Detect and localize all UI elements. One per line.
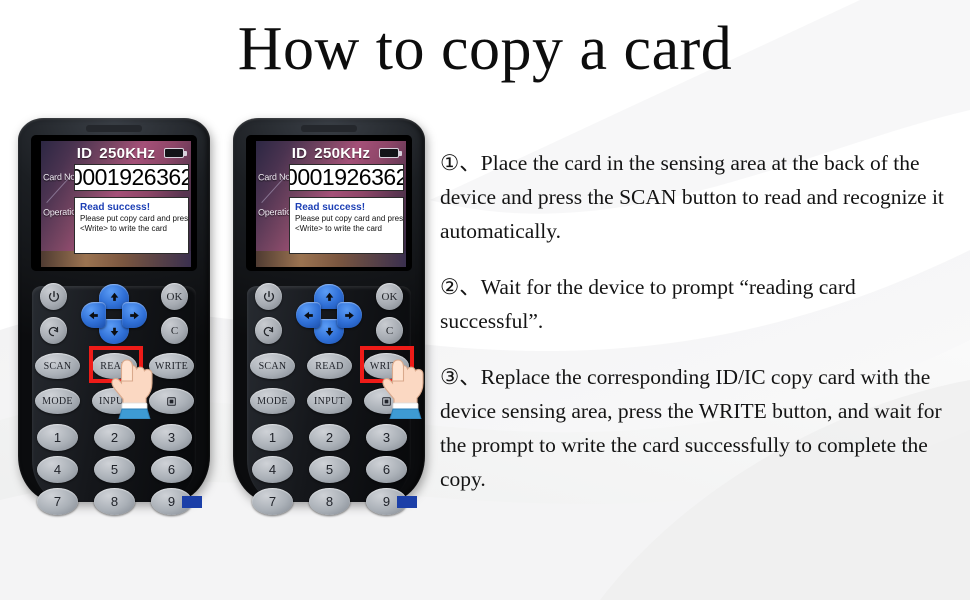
pointing-hand-icon — [110, 357, 170, 419]
arrow-down-icon — [323, 325, 336, 338]
dpad — [81, 284, 147, 344]
lcd-message-title: Read success! — [295, 202, 399, 214]
lcd-card-number-value: 0001926362 — [289, 164, 404, 191]
page-title: How to copy a card — [0, 14, 970, 85]
lcd-message-line-1: Please put copy card and press — [80, 214, 184, 224]
lcd-card-number-value: 0001926362 — [74, 164, 189, 191]
arrow-up-icon — [323, 290, 336, 303]
instructions-list: ①、Place the card in the sensing area at … — [440, 146, 964, 496]
read-button[interactable]: READ — [307, 353, 352, 379]
key-3[interactable]: 3 — [366, 424, 407, 451]
arrow-left-icon — [302, 309, 315, 322]
power-button[interactable] — [40, 283, 67, 310]
keypad: OK C — [18, 281, 210, 502]
key-3[interactable]: 3 — [151, 424, 192, 451]
mode-button[interactable]: MODE — [250, 388, 295, 414]
device-blue-tab — [397, 496, 417, 508]
ok-button[interactable]: OK — [161, 283, 188, 310]
input-button[interactable]: INPUT — [307, 388, 352, 414]
key-5[interactable]: 5 — [94, 456, 135, 483]
return-arrow-icon — [47, 324, 61, 338]
device-speaker-notch — [301, 125, 357, 132]
lcd-card-number-field: 0001926362 — [74, 164, 189, 191]
instruction-step-1: ①、Place the card in the sensing area at … — [440, 146, 964, 248]
dpad-left-button[interactable] — [296, 302, 321, 328]
lcd-frequency-label: 250KHz — [314, 145, 370, 162]
lcd-screen: ID 250KHz Card No Operation 0001926362 R… — [256, 141, 406, 267]
lcd-bezel: ID 250KHz Card No Operation 0001926362 R… — [246, 135, 412, 271]
key-6[interactable]: 6 — [151, 456, 192, 483]
device-speaker-notch — [86, 125, 142, 132]
key-7[interactable]: 7 — [252, 488, 293, 515]
lcd-card-number-field: 0001926362 — [289, 164, 404, 191]
key-6[interactable]: 6 — [366, 456, 407, 483]
key-4[interactable]: 4 — [37, 456, 78, 483]
mode-button[interactable]: MODE — [35, 388, 80, 414]
lcd-message-panel: Read success! Please put copy card and p… — [74, 197, 189, 254]
arrow-up-icon — [108, 290, 121, 303]
dpad — [296, 284, 362, 344]
key-8[interactable]: 8 — [94, 488, 135, 515]
power-icon — [47, 290, 61, 304]
lcd-card-no-label: Card No — [258, 172, 290, 183]
lcd-mode-label: ID — [292, 145, 308, 162]
clear-button[interactable]: C — [161, 317, 188, 344]
lcd-message-line-1: Please put copy card and press — [295, 214, 399, 224]
key-8[interactable]: 8 — [309, 488, 350, 515]
lcd-card-no-label: Card No — [43, 172, 75, 183]
lcd-message-line-2: <Write> to write the card — [80, 224, 184, 234]
instruction-step-3: ③、Replace the corresponding ID/IC copy c… — [440, 360, 964, 496]
pointing-hand-icon — [381, 357, 441, 419]
key-7[interactable]: 7 — [37, 488, 78, 515]
back-button[interactable] — [255, 317, 282, 344]
key-1[interactable]: 1 — [37, 424, 78, 451]
return-arrow-icon — [262, 324, 276, 338]
key-2[interactable]: 2 — [94, 424, 135, 451]
instruction-step-2: ②、Wait for the device to prompt “reading… — [440, 270, 964, 338]
device-read: ID 250KHz Card No Operation 0001926362 R… — [18, 118, 210, 502]
key-2[interactable]: 2 — [309, 424, 350, 451]
dpad-left-button[interactable] — [81, 302, 106, 328]
battery-icon — [164, 148, 184, 158]
dpad-right-button[interactable] — [337, 302, 362, 328]
battery-icon — [379, 148, 399, 158]
key-5[interactable]: 5 — [309, 456, 350, 483]
lcd-message-panel: Read success! Please put copy card and p… — [289, 197, 404, 254]
arrow-right-icon — [343, 309, 356, 322]
arrow-right-icon — [128, 309, 141, 322]
power-icon — [262, 290, 276, 304]
scan-button[interactable]: SCAN — [35, 353, 80, 379]
arrow-down-icon — [108, 325, 121, 338]
back-button[interactable] — [40, 317, 67, 344]
key-1[interactable]: 1 — [252, 424, 293, 451]
lcd-frequency-label: 250KHz — [99, 145, 155, 162]
keypad: OK C SCA — [233, 281, 425, 502]
key-4[interactable]: 4 — [252, 456, 293, 483]
dpad-right-button[interactable] — [122, 302, 147, 328]
ok-button[interactable]: OK — [376, 283, 403, 310]
lcd-bezel: ID 250KHz Card No Operation 0001926362 R… — [31, 135, 197, 271]
lcd-message-title: Read success! — [80, 202, 184, 214]
lcd-mode-label: ID — [77, 145, 93, 162]
scan-button[interactable]: SCAN — [250, 353, 295, 379]
lcd-message-line-2: <Write> to write the card — [295, 224, 399, 234]
device-blue-tab — [182, 496, 202, 508]
lcd-screen: ID 250KHz Card No Operation 0001926362 R… — [41, 141, 191, 267]
power-button[interactable] — [255, 283, 282, 310]
arrow-left-icon — [87, 309, 100, 322]
clear-button[interactable]: C — [376, 317, 403, 344]
device-write: ID 250KHz Card No Operation 0001926362 R… — [233, 118, 425, 502]
